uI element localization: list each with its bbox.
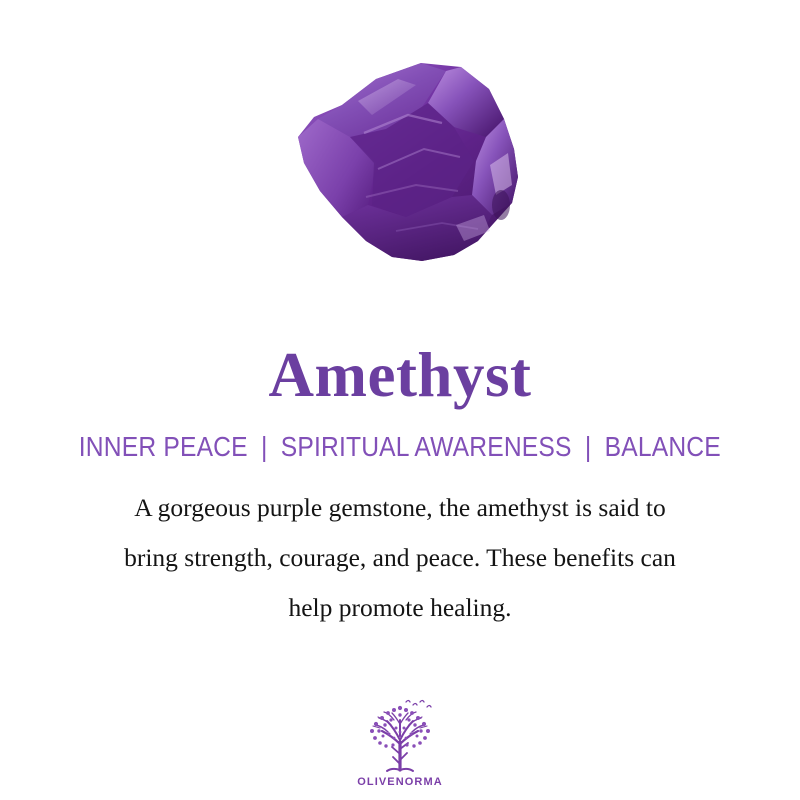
keyword-spiritual-awareness: SPIRITUAL AWARENESS bbox=[279, 433, 573, 461]
product-card: Amethyst INNER PEACE | SPIRITUAL AWARENE… bbox=[0, 0, 800, 800]
product-description: A gorgeous purple gemstone, the amethyst… bbox=[40, 483, 760, 633]
description-line: bring strength, courage, and peace. Thes… bbox=[40, 533, 760, 583]
crystal-inclusion bbox=[492, 190, 510, 220]
keyword-balance: BALANCE bbox=[603, 433, 723, 461]
keyword-separator: | bbox=[574, 433, 603, 461]
page-title: Amethyst bbox=[269, 344, 532, 407]
brand-name: OLIVENORMA bbox=[357, 776, 443, 788]
keyword-inner-peace: INNER PEACE bbox=[77, 433, 250, 461]
keyword-separator: | bbox=[250, 433, 279, 461]
brand-logo: OLIVENORMA bbox=[0, 698, 800, 788]
product-image-area bbox=[0, 0, 800, 322]
amethyst-crystal-image bbox=[246, 45, 566, 285]
keyword-list: INNER PEACE | SPIRITUAL AWARENESS | BALA… bbox=[77, 433, 723, 461]
bird-icon bbox=[406, 701, 431, 708]
tree-of-life-icon bbox=[358, 698, 442, 774]
description-line: A gorgeous purple gemstone, the amethyst… bbox=[40, 483, 760, 533]
description-line: help promote healing. bbox=[40, 583, 760, 633]
